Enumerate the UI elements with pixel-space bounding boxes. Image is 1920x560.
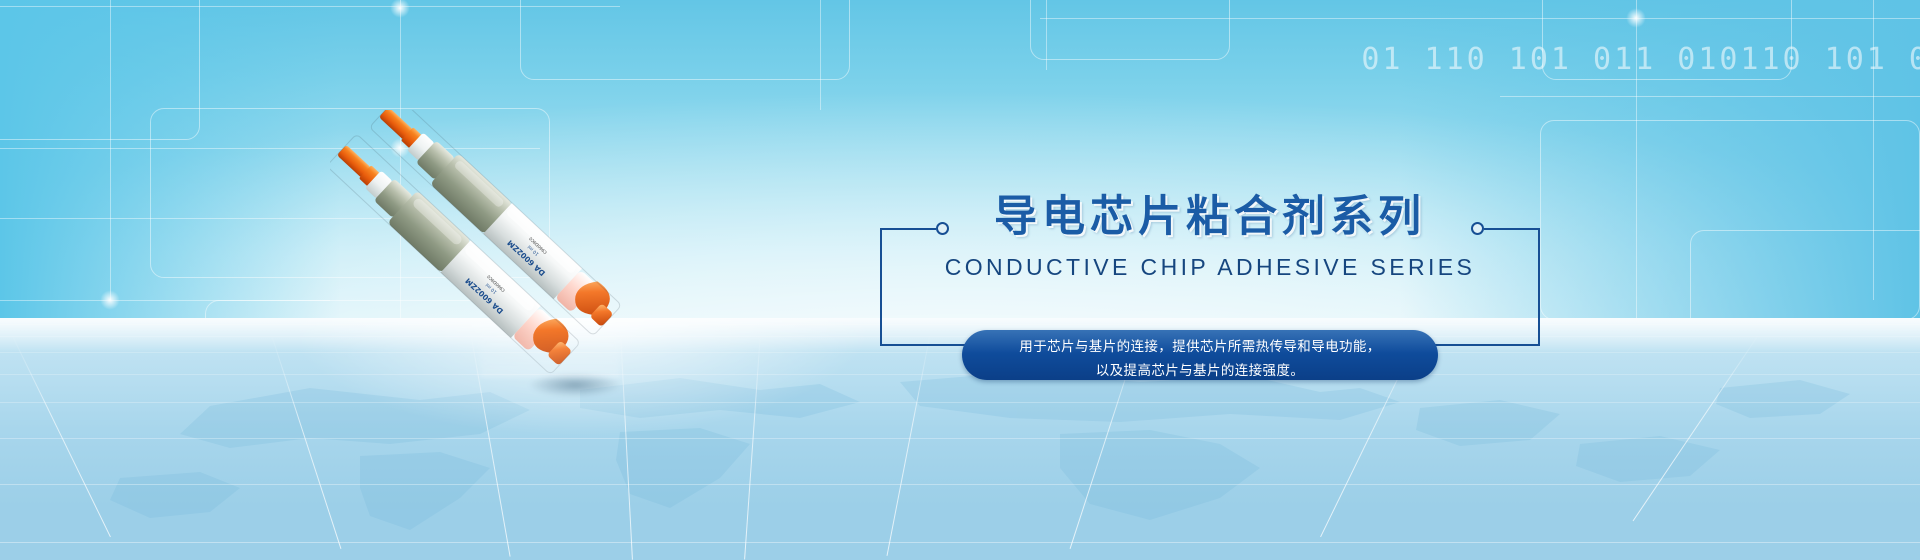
product-reflection bbox=[480, 318, 620, 379]
description-pill: 用于芯片与基片的连接，提供芯片所需热传导和导电功能， 以及提高芯片与基片的连接强… bbox=[962, 330, 1438, 380]
banner-text-block: 导电芯片粘合剂系列 CONDUCTIVE CHIP ADHESIVE SERIE… bbox=[880, 196, 1540, 386]
frame-right-segment bbox=[1538, 228, 1540, 346]
frame-left-segment bbox=[880, 228, 882, 346]
product-banner: 01 110 101 011 010110 101 0 010 001 0110… bbox=[0, 0, 1920, 560]
description-line-1: 用于芯片与基片的连接，提供芯片所需热传导和导电功能， bbox=[962, 336, 1438, 360]
frame-bottom-right-segment bbox=[1420, 344, 1540, 346]
description-line-2: 以及提高芯片与基片的连接强度。 bbox=[962, 360, 1438, 380]
binary-text-top-right: 01 110 101 011 010110 101 0 bbox=[1361, 42, 1920, 77]
sky-edge-left bbox=[0, 0, 340, 340]
description-text: 用于芯片与基片的连接，提供芯片所需热传导和导电功能， 以及提高芯片与基片的连接强… bbox=[962, 330, 1438, 380]
product-image: DA 6002ZM 10 ml C960D9C0 bbox=[330, 110, 660, 410]
page-subtitle: CONDUCTIVE CHIP ADHESIVE SERIES bbox=[880, 254, 1540, 281]
page-title: 导电芯片粘合剂系列 bbox=[880, 196, 1540, 239]
